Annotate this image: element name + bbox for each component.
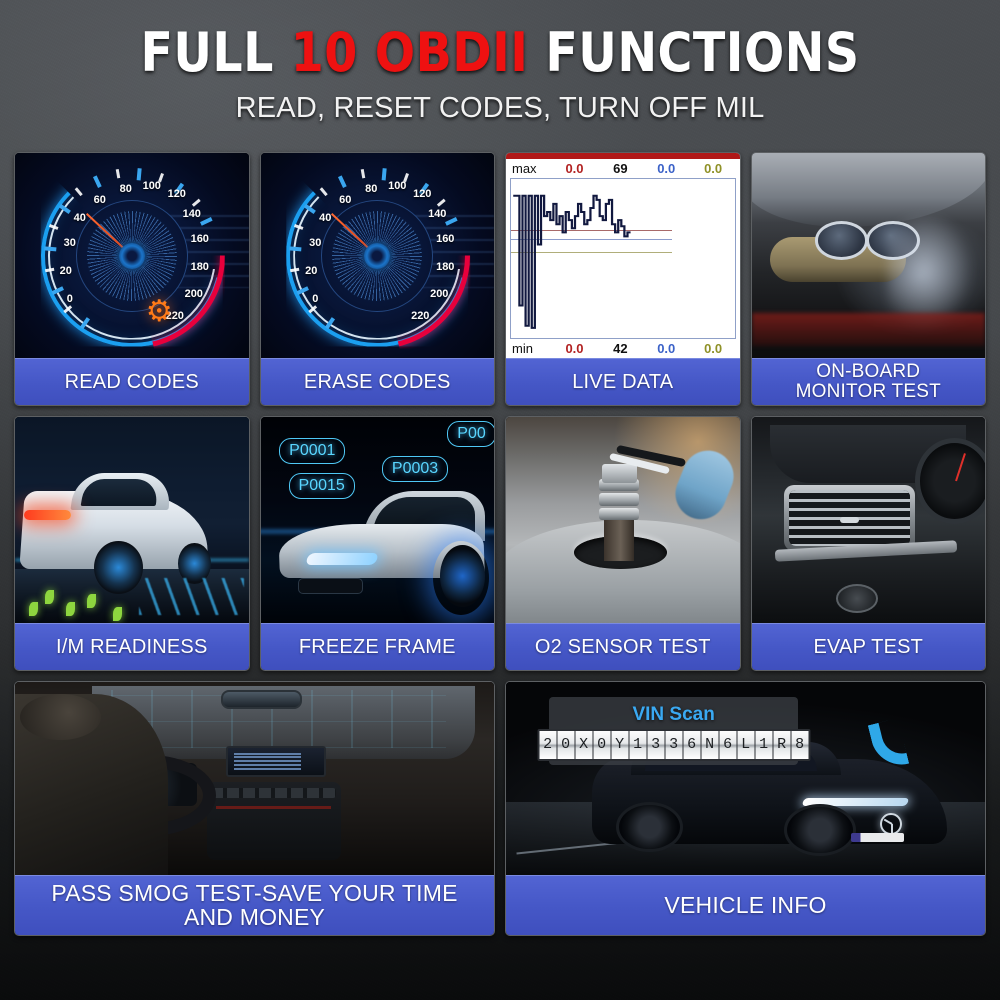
- evap-media: [752, 417, 986, 623]
- vin-digit: N: [701, 731, 718, 759]
- tick-label-140: 140: [428, 208, 446, 220]
- dashboard-vent-photo: [752, 417, 986, 623]
- vin-digit: 1: [755, 731, 772, 759]
- vent-knob: [840, 517, 858, 524]
- vin-digit: 2: [539, 731, 556, 759]
- card-label-evap-test: EVAP TEST: [752, 623, 986, 670]
- feature-card-on-board-monitor-test[interactable]: ON-BOARD MONITOR TEST: [751, 152, 987, 406]
- black-sedan-photo: VIN Scan 20X0Y1336N6L1R8: [506, 682, 985, 875]
- feature-grid: 0 20 30 40 60 80 100 120 140 160 180 200…: [14, 152, 986, 946]
- card-label-on-board-monitor-test: ON-BOARD MONITOR TEST: [752, 358, 986, 405]
- tick-label-60: 60: [339, 194, 351, 206]
- tick-label-30: 30: [64, 237, 76, 249]
- vin-scan-title: VIN Scan: [549, 704, 798, 726]
- feature-card-freeze-frame[interactable]: P0001 P0003 P0015 P00 FREEZE FRAME: [260, 416, 496, 671]
- air-vent: [784, 485, 915, 551]
- max-value-3: 0.0: [643, 161, 690, 176]
- exhaust-photo: [752, 153, 986, 358]
- tick-label-100: 100: [388, 180, 406, 192]
- speedometer-hub: [119, 243, 145, 269]
- on-board-monitor-media: [752, 153, 986, 358]
- feature-card-o2-sensor-test[interactable]: O2 SENSOR TEST: [505, 416, 741, 671]
- live-data-screen: max 0.0 69 0.0 0.0: [506, 153, 740, 358]
- page-title: FULL 10 OBDII FUNCTIONS: [60, 26, 940, 80]
- speedometer-dial-2: 0 20 30 40 60 80 100 120 140 160 180 200…: [286, 165, 468, 347]
- dtc-code-badge: P0015: [289, 473, 355, 499]
- tick-label-20: 20: [60, 265, 72, 277]
- card-label-read-codes: READ CODES: [15, 358, 249, 405]
- tick-label-160: 160: [436, 233, 454, 245]
- dash-vents: [211, 788, 336, 798]
- oxygen-sensor-photo: [506, 417, 740, 623]
- mercedes-star-icon: [880, 813, 902, 835]
- feature-row-2: I/M READINESS P0001 P0003 P0015 P00: [14, 416, 986, 671]
- erase-codes-media: 0 20 30 40 60 80 100 120 140 160 180 200…: [261, 153, 495, 358]
- freeze-frame-media: P0001 P0003 P0015 P00: [261, 417, 495, 623]
- card-label-erase-codes: ERASE CODES: [261, 358, 495, 405]
- card-label-pass-smog-test: PASS SMOG TEST-SAVE YOUR TIME AND MONEY: [15, 875, 494, 935]
- vin-digit: 0: [593, 731, 610, 759]
- min-value-1: 0.0: [551, 341, 598, 356]
- vin-digit: R: [773, 731, 790, 759]
- driver-head: [20, 694, 101, 740]
- vin-digit: 1: [629, 731, 646, 759]
- feature-card-im-readiness[interactable]: I/M READINESS: [14, 416, 250, 671]
- speedometer-hub: [364, 243, 390, 269]
- vin-digit: 3: [665, 731, 682, 759]
- vin-digit: 6: [719, 731, 736, 759]
- instrument-gauge: [915, 438, 985, 525]
- card-label-vehicle-info: VEHICLE INFO: [506, 875, 985, 935]
- live-data-plot: [510, 178, 736, 339]
- vin-scan-panel: VIN Scan 20X0Y1336N6L1R8: [549, 697, 798, 765]
- live-data-min-row: min 0.0 42 0.0 0.0: [506, 339, 740, 358]
- label-line-1: PASS SMOG TEST-SAVE YOUR TIME: [51, 882, 457, 906]
- min-value-2: 42: [598, 341, 643, 356]
- infotainment-screen: [226, 746, 327, 777]
- rearview-mirror: [221, 690, 302, 709]
- page-subtitle: READ, RESET CODES, TURN OFF MIL: [0, 92, 1000, 125]
- check-engine-icon: ⚙: [146, 294, 173, 329]
- label-line-2: AND MONEY: [51, 906, 457, 930]
- vin-digit: X: [575, 731, 592, 759]
- vin-digit: Y: [611, 731, 628, 759]
- sensor-nut: [599, 508, 639, 520]
- vin-digits: 20X0Y1336N6L1R8: [537, 729, 810, 761]
- card-label-freeze-frame: FREEZE FRAME: [261, 623, 495, 670]
- page-header: FULL 10 OBDII FUNCTIONS READ, RESET CODE…: [0, 0, 1000, 125]
- vin-digit: 6: [683, 731, 700, 759]
- speedometer-dial: 0 20 30 40 60 80 100 120 140 160 180 200…: [41, 165, 223, 347]
- tick-label-200: 200: [430, 288, 448, 300]
- card-label-im-readiness: I/M READINESS: [15, 623, 249, 670]
- im-readiness-media: [15, 417, 249, 623]
- tick-label-200: 200: [185, 288, 203, 300]
- vin-digit: 0: [557, 731, 574, 759]
- label-line-1: ON-BOARD: [796, 362, 941, 382]
- tick-label-100: 100: [143, 180, 161, 192]
- tick-label-40: 40: [74, 212, 86, 224]
- dtc-code-badge: P0001: [279, 438, 345, 464]
- dtc-code-badge: P00: [447, 421, 494, 447]
- driver-interior-photo: [15, 682, 494, 875]
- city-lights: [139, 578, 244, 615]
- max-label: max: [512, 161, 551, 176]
- title-highlight: 10 OBDII: [291, 21, 529, 84]
- garage-floor: [752, 313, 986, 346]
- feature-card-live-data[interactable]: max 0.0 69 0.0 0.0: [505, 152, 741, 406]
- feature-row-1: 0 20 30 40 60 80 100 120 140 160 180 200…: [14, 152, 986, 406]
- coolant-hose: [668, 443, 740, 527]
- tick-label-80: 80: [120, 183, 132, 195]
- tick-label-180: 180: [436, 261, 454, 273]
- rear-wheel: [616, 802, 683, 852]
- title-part-1: FULL: [140, 21, 290, 84]
- tick-label-180: 180: [191, 261, 209, 273]
- feature-card-erase-codes[interactable]: 0 20 30 40 60 80 100 120 140 160 180 200…: [260, 152, 496, 406]
- front-grille: [298, 578, 363, 594]
- radio-display: [216, 806, 331, 810]
- vin-digit: L: [737, 731, 754, 759]
- headlight-switch: [836, 584, 878, 613]
- card-label-o2-sensor-test: O2 SENSOR TEST: [506, 623, 740, 670]
- speedometer-graphic: 0 20 30 40 60 80 100 120 140 160 180 200…: [15, 153, 249, 358]
- min-value-3: 0.0: [643, 341, 690, 356]
- label-line-2: MONITOR TEST: [796, 382, 941, 402]
- sensor-cap: [602, 464, 637, 483]
- license-plate: [851, 833, 904, 843]
- o2-sensor-media: [506, 417, 740, 623]
- tick-label-160: 160: [191, 233, 209, 245]
- white-sports-car-photo: [15, 417, 249, 623]
- eco-leaf-icon: [113, 607, 122, 621]
- feature-row-3: PASS SMOG TEST-SAVE YOUR TIME AND MONEY: [14, 681, 986, 936]
- tick-label-0: 0: [67, 293, 73, 305]
- sensor-nut: [599, 493, 639, 505]
- max-value-1: 0.0: [551, 161, 598, 176]
- front-wheel: [440, 545, 484, 607]
- feature-card-pass-smog-test[interactable]: PASS SMOG TEST-SAVE YOUR TIME AND MONEY: [14, 681, 495, 936]
- live-data-max-row: max 0.0 69 0.0 0.0: [506, 159, 740, 178]
- tick-label-20: 20: [305, 265, 317, 277]
- tick-label-140: 140: [183, 208, 201, 220]
- title-part-2: FUNCTIONS: [528, 21, 859, 84]
- tailpipe-left: [815, 221, 869, 260]
- vehicle-info-media: VIN Scan 20X0Y1336N6L1R8: [506, 682, 985, 875]
- tick-label-40: 40: [319, 212, 331, 224]
- read-codes-media: 0 20 30 40 60 80 100 120 140 160 180 200…: [15, 153, 249, 358]
- dtc-code-badge: P0003: [382, 456, 448, 482]
- feature-card-vehicle-info[interactable]: VIN Scan 20X0Y1336N6L1R8 VEHICLE INFO: [505, 681, 986, 936]
- min-label: min: [512, 341, 551, 356]
- live-data-trace: [511, 179, 735, 338]
- tick-label-60: 60: [94, 194, 106, 206]
- card-label-live-data: LIVE DATA: [506, 358, 740, 405]
- tick-label-30: 30: [309, 237, 321, 249]
- tick-label-120: 120: [413, 188, 431, 200]
- tick-label-80: 80: [365, 183, 377, 195]
- max-value-4: 0.0: [690, 161, 737, 176]
- tail-light: [24, 510, 71, 520]
- front-wheel: [784, 804, 856, 856]
- tick-label-220: 220: [411, 310, 429, 322]
- tick-label-120: 120: [168, 188, 186, 200]
- headlight: [305, 553, 379, 565]
- feature-card-read-codes[interactable]: 0 20 30 40 60 80 100 120 140 160 180 200…: [14, 152, 250, 406]
- tick-label-0: 0: [312, 293, 318, 305]
- pass-smog-media: [15, 682, 494, 875]
- feature-card-evap-test[interactable]: EVAP TEST: [751, 416, 987, 671]
- vin-digit: 3: [647, 731, 664, 759]
- live-data-media: max 0.0 69 0.0 0.0: [506, 153, 740, 358]
- speedometer-graphic-2: 0 20 30 40 60 80 100 120 140 160 180 200…: [261, 153, 495, 358]
- min-value-4: 0.0: [690, 341, 737, 356]
- blue-car-photo: P0001 P0003 P0015 P00: [261, 417, 495, 623]
- max-value-2: 69: [598, 161, 643, 176]
- vin-digit: 8: [791, 731, 808, 759]
- car-window: [80, 479, 159, 506]
